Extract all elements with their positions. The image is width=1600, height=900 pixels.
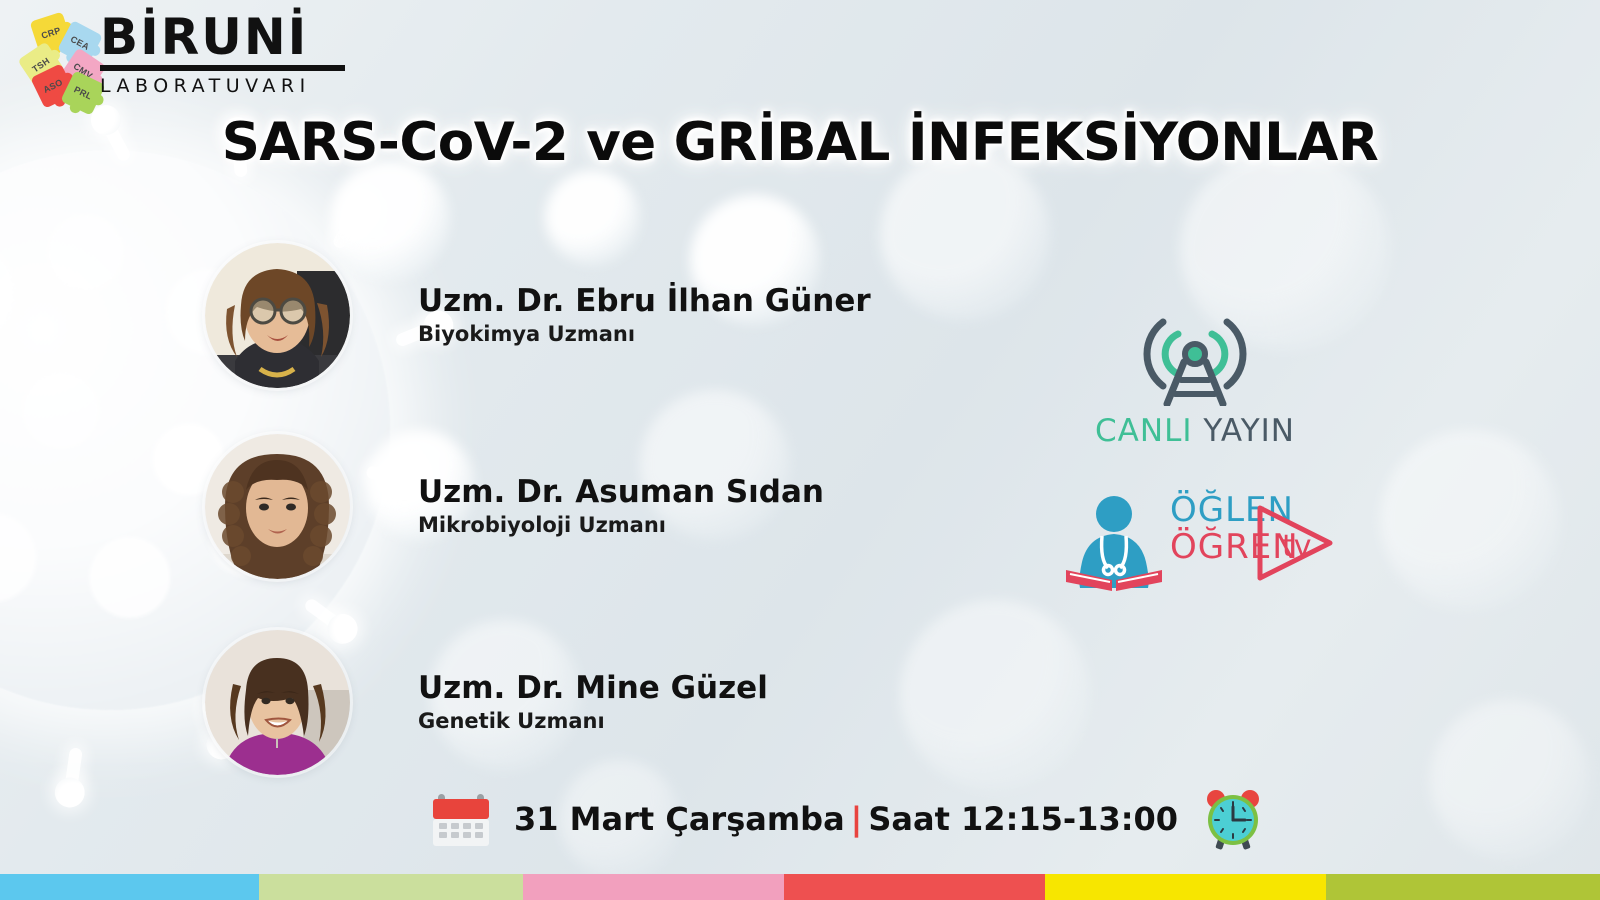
avatar-ebru-ilhan-guner: [205, 243, 350, 388]
virus-particle-large: [0, 150, 390, 710]
speaker-row: Uzm. Dr. Asuman Sıdan Mikrobiyoloji Uzma…: [205, 434, 824, 579]
event-date: 31 Mart Çarşamba: [514, 800, 845, 838]
puzzle-label: CRP: [40, 25, 62, 41]
brand-subtitle: LABORATUVARI: [100, 75, 345, 97]
live-word-canli: CANLI: [1095, 413, 1192, 449]
virus-spike: [64, 747, 83, 790]
speaker-name: Uzm. Dr. Mine Güzel: [418, 671, 768, 706]
event-datetime-text: 31 Mart Çarşamba|Saat 12:15-13:00: [514, 800, 1178, 838]
avatar-portrait-icon: [205, 243, 350, 388]
strip-segment-green: [259, 874, 523, 900]
avatar-asuman-sidan: [205, 434, 350, 579]
speaker-row: Uzm. Dr. Mine Güzel Genetik Uzmanı: [205, 630, 768, 775]
speaker-role: Genetik Uzmanı: [418, 709, 768, 734]
live-broadcast-badge: CANLI YAYIN: [1090, 288, 1300, 449]
broadcast-tower-icon: [1120, 288, 1270, 406]
oglen-ogren-tv-logo: ÖĞLEN ÖĞREN tv: [1062, 488, 1334, 596]
live-word-yayin: YAYIN: [1203, 413, 1295, 449]
bottom-color-strip: [0, 874, 1600, 900]
poster-title: SARS-CoV-2 ve GRİBAL İNFEKSİYONLAR: [0, 112, 1600, 173]
alarm-clock-icon: [1200, 786, 1266, 852]
speaker-info: Uzm. Dr. Ebru İlhan Güner Biyokimya Uzma…: [418, 284, 871, 347]
speaker-role: Mikrobiyoloji Uzmanı: [418, 513, 824, 538]
speaker-name: Uzm. Dr. Asuman Sıdan: [418, 475, 824, 510]
virus-spike: [303, 597, 345, 632]
virus-blur-blob: [1430, 700, 1590, 860]
doctor-reading-book-icon: [1062, 492, 1167, 592]
speaker-row: Uzm. Dr. Ebru İlhan Güner Biyokimya Uzma…: [205, 243, 871, 388]
speaker-name: Uzm. Dr. Ebru İlhan Güner: [418, 284, 871, 319]
biruni-wordmark: BİRUNİ LABORATUVARI: [100, 12, 345, 97]
avatar-portrait-icon: [205, 630, 350, 775]
puzzle-pieces-icon: CRP CEA CMV TSH ASO PRL: [18, 14, 106, 106]
tv-label: tv: [1282, 529, 1312, 564]
puzzle-label: ASO: [42, 77, 65, 95]
brand-name: BİRUNİ: [100, 12, 345, 62]
calendar-icon: [430, 788, 492, 850]
webinar-poster: CRP CEA CMV TSH ASO PRL BİRUNİ LABORATUV…: [0, 0, 1600, 900]
speaker-info: Uzm. Dr. Mine Güzel Genetik Uzmanı: [418, 671, 768, 734]
puzzle-label: PRL: [72, 84, 93, 101]
strip-segment-olive: [1326, 874, 1600, 900]
speaker-info: Uzm. Dr. Asuman Sıdan Mikrobiyoloji Uzma…: [418, 475, 824, 538]
virus-blur-blob: [900, 600, 1090, 790]
biruni-logo: CRP CEA CMV TSH ASO PRL BİRUNİ LABORATUV…: [18, 8, 348, 108]
event-separator: |: [845, 800, 869, 838]
strip-segment-yellow: [1045, 874, 1327, 900]
strip-segment-red: [784, 874, 1045, 900]
avatar-portrait-icon: [205, 434, 350, 579]
virus-blur-blob: [880, 150, 1050, 320]
event-time: Saat 12:15-13:00: [868, 800, 1178, 838]
strip-segment-pink: [523, 874, 784, 900]
speaker-role: Biyokimya Uzmanı: [418, 322, 871, 347]
strip-segment-blue: [0, 874, 259, 900]
tv-play-triangle-icon: tv: [1248, 498, 1340, 590]
live-badge-caption: CANLI YAYIN: [1090, 413, 1300, 449]
event-datetime-bar: 31 Mart Çarşamba|Saat 12:15-13:00: [430, 786, 1266, 852]
virus-blur-blob: [1380, 430, 1560, 610]
avatar-mine-guzel: [205, 630, 350, 775]
